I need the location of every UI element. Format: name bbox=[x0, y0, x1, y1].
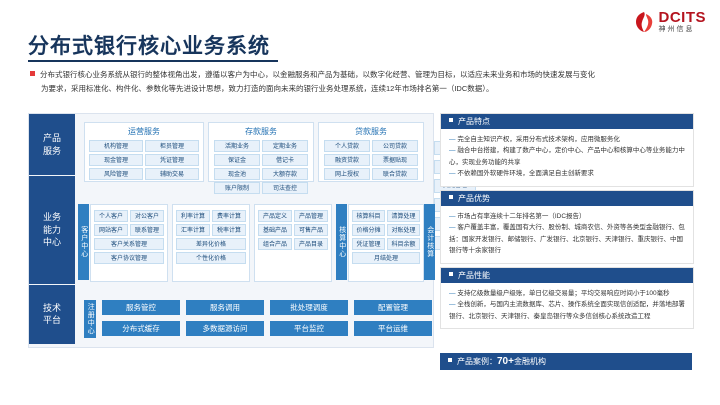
section-header-text: 产品特点 bbox=[458, 117, 490, 126]
case-number: 70+ bbox=[497, 356, 514, 367]
intro-line-2: 为要求，采用标准化、构件化、参数化等先进设计思想，致力打造的面向未来的银行业务处… bbox=[41, 82, 690, 96]
group-pricing-center: 利率计算 费率计算 汇率计算 税率计算 差异化价格 个性化价格 bbox=[172, 204, 250, 282]
group-customer-center: 个人客户 对公客户 网站客户 联系管理 客户关系管理 客户协议管理 bbox=[90, 204, 168, 282]
cell-item[interactable]: 产品目录 bbox=[294, 238, 328, 250]
group-accounting-center: 核算科目 清算处理 价格分摊 对账处理 凭证管理 科目余额 月结处理 bbox=[348, 204, 424, 282]
bullet-text: 完全自主知识产权，采用分布式技术架构，应用微服务化 bbox=[457, 136, 620, 143]
brand-en: DCITS bbox=[659, 10, 707, 25]
cell-item[interactable]: 客户关系管理 bbox=[94, 238, 164, 250]
cell-item[interactable]: 核算科目 bbox=[352, 210, 385, 222]
cell-item[interactable]: 汇率计算 bbox=[176, 224, 210, 236]
cell-item[interactable]: 大额存款 bbox=[262, 168, 308, 180]
cell-item[interactable]: 可售产品 bbox=[294, 224, 328, 236]
intro-line-1: 分布式银行核心业务系统从银行的整体视角出发，遵循以客户为中心，以金融服务和产品为… bbox=[30, 68, 690, 82]
vstrip-customer-center: 客户中心 bbox=[78, 204, 89, 280]
brand-logo: DCITS 神州信息 bbox=[633, 10, 707, 33]
cell-item[interactable]: 定期业务 bbox=[262, 140, 308, 152]
case-prefix: 产品案例： bbox=[457, 357, 497, 366]
cell-item[interactable]: 联系管理 bbox=[130, 224, 164, 236]
cell-item[interactable]: 个人贷款 bbox=[324, 140, 370, 152]
brand-text: DCITS 神州信息 bbox=[659, 10, 707, 33]
section-header: 产品特点 bbox=[441, 114, 693, 129]
title-underline bbox=[28, 60, 278, 62]
cell-item[interactable]: 组合产品 bbox=[258, 238, 292, 250]
tech-row-2: 分布式缓存 多数据源访问 平台监控 平台运维 bbox=[102, 321, 432, 336]
cell-item[interactable]: 机构管理 bbox=[89, 140, 143, 152]
group-title: 运营服务 bbox=[85, 126, 203, 137]
case-banner: 产品案例：70+金融机构 bbox=[440, 353, 692, 370]
bullet-square-icon bbox=[449, 195, 453, 199]
group-cells: 个人贷款 公司贷款 融资贷款 票据贴现 网上授权 联合贷款 bbox=[319, 137, 423, 180]
cell-item[interactable]: 对公客户 bbox=[130, 210, 164, 222]
group-cells: 产品定义 产品管理 基础产品 可售产品 组合产品 产品目录 bbox=[255, 205, 331, 250]
cell-item[interactable]: 利率计算 bbox=[176, 210, 210, 222]
section-header-text: 产品性能 bbox=[458, 271, 490, 280]
slide-root: DCITS 神州信息 分布式银行核心业务系统 分布式银行核心业务系统从银行的整体… bbox=[0, 0, 720, 405]
cell-item[interactable]: 税率计算 bbox=[212, 224, 246, 236]
group-title: 贷款服务 bbox=[319, 126, 423, 137]
cell-item[interactable]: 费率计算 bbox=[212, 210, 246, 222]
tech-button[interactable]: 分布式缓存 bbox=[102, 321, 180, 336]
tech-buttons: 服务管控 服务调用 批处理调度 配置管理 分布式缓存 多数据源访问 平台监控 平… bbox=[102, 300, 432, 336]
cell-item[interactable]: 活期业务 bbox=[214, 140, 260, 152]
cell-item[interactable]: 凭证管理 bbox=[145, 154, 199, 166]
group-cells: 核算科目 清算处理 价格分摊 对账处理 凭证管理 科目余额 月结处理 bbox=[349, 205, 423, 264]
section-body: — 市场占有率连续十二年排名第一（IDC报告） — 客户覆盖丰富，覆盖国有大行、… bbox=[441, 206, 693, 263]
cell-item[interactable]: 产品定义 bbox=[258, 210, 292, 222]
bullet-text: 市场占有率连续十二年排名第一（IDC报告） bbox=[457, 213, 585, 220]
group-deposit-service: 存款服务 活期业务 定期业务 保证金 借记卡 现金池 大额存款 账户限制 司法查… bbox=[208, 122, 314, 182]
vstrip-accounting-label: 会计核算 bbox=[424, 204, 435, 280]
cell-item[interactable]: 借记卡 bbox=[262, 154, 308, 166]
tech-row-1: 服务管控 服务调用 批处理调度 配置管理 bbox=[102, 300, 432, 315]
bullet-line: — 支持亿级数量级户级账，单日亿级交易量；平均交易响应时间小于100毫秒 bbox=[449, 288, 685, 299]
cell-item[interactable]: 司法查控 bbox=[262, 182, 308, 194]
tech-button[interactable]: 配置管理 bbox=[354, 300, 432, 315]
section-product-performance: 产品性能 — 支持亿级数量级户级账，单日亿级交易量；平均交易响应时间小于100毫… bbox=[440, 267, 694, 329]
section-header: 产品性能 bbox=[441, 268, 693, 283]
cell-item[interactable]: 联合贷款 bbox=[372, 168, 418, 180]
cell-item[interactable]: 科目余额 bbox=[387, 238, 420, 250]
cell-item[interactable]: 产品管理 bbox=[294, 210, 328, 222]
section-body: — 支持亿级数量级户级账，单日亿级交易量；平均交易响应时间小于100毫秒 — 全… bbox=[441, 283, 693, 328]
cell-item[interactable]: 现金池 bbox=[214, 168, 260, 180]
tech-button[interactable]: 平台运维 bbox=[354, 321, 432, 336]
cell-item[interactable]: 柜员管理 bbox=[145, 140, 199, 152]
section-product-features: 产品特点 — 完全自主知识产权，采用分布式技术架构，应用微服务化 — 融合中台搭… bbox=[440, 113, 694, 187]
cell-item[interactable]: 账户限制 bbox=[214, 182, 260, 194]
vstrip-accounting-center: 核算中心 bbox=[336, 204, 347, 280]
tech-button[interactable]: 服务管控 bbox=[102, 300, 180, 315]
cell-item[interactable]: 凭证管理 bbox=[352, 238, 385, 250]
rail-tech-platform: 技术平台 bbox=[29, 285, 75, 345]
cell-item[interactable]: 网站客户 bbox=[94, 224, 128, 236]
group-cells: 个人客户 对公客户 网站客户 联系管理 客户关系管理 客户协议管理 bbox=[91, 205, 167, 264]
cell-item[interactable]: 辅助交易 bbox=[145, 168, 199, 180]
group-product-center: 产品定义 产品管理 基础产品 可售产品 组合产品 产品目录 bbox=[254, 204, 332, 282]
logo-mark-icon bbox=[633, 11, 655, 33]
cell-item[interactable]: 个人客户 bbox=[94, 210, 128, 222]
intro-text: 分布式银行核心业务系统从银行的整体视角出发，遵循以客户为中心，以金融服务和产品为… bbox=[30, 68, 690, 97]
section-header: 产品优势 bbox=[441, 191, 693, 206]
rail-capability-center: 业务能力中心 bbox=[29, 176, 75, 285]
page-title: 分布式银行核心业务系统 bbox=[28, 30, 270, 60]
bullet-line: — 完全自主知识产权，采用分布式技术架构，应用微服务化 bbox=[449, 134, 685, 145]
tech-button[interactable]: 批处理调度 bbox=[270, 300, 348, 315]
cell-item[interactable]: 融资贷款 bbox=[324, 154, 370, 166]
bullet-line: — 融合中台搭建，构建了数产中心，定价中心、产品中心和核算中心等业务能力中心，实… bbox=[449, 145, 685, 168]
cell-item[interactable]: 清算处理 bbox=[387, 210, 420, 222]
group-loan-service: 贷款服务 个人贷款 公司贷款 融资贷款 票据贴现 网上授权 联合贷款 bbox=[318, 122, 424, 182]
cell-item[interactable]: 票据贴现 bbox=[372, 154, 418, 166]
rail-product-service: 产品服务 bbox=[29, 114, 75, 176]
bullet-text: 不依赖国外软硬件环境，全面满足自主创新要求 bbox=[457, 170, 594, 177]
bullet-text: 全栈创新，与国内主流数据库、芯片、操作系统全面实现信创适配，并落地部署银行、北京… bbox=[449, 301, 685, 319]
bullet-text: 客户覆盖丰富，覆盖国有大行、股份制、城商农信、外资等各类型金融银行、包括：国家开… bbox=[449, 224, 685, 254]
cell-item[interactable]: 风险管理 bbox=[89, 168, 143, 180]
group-cells: 利率计算 费率计算 汇率计算 税率计算 差异化价格 个性化价格 bbox=[173, 205, 249, 264]
intro-line-1-text: 分布式银行核心业务系统从银行的整体视角出发，遵循以客户为中心，以金融服务和产品为… bbox=[40, 70, 595, 79]
group-cells: 活期业务 定期业务 保证金 借记卡 现金池 大额存款 账户限制 司法查控 bbox=[209, 137, 313, 194]
cell-item[interactable]: 月结处理 bbox=[352, 252, 420, 264]
cell-item[interactable]: 价格分摊 bbox=[352, 224, 385, 236]
group-cells: 机构管理 柜员管理 现金管理 凭证管理 风险管理 辅助交易 bbox=[85, 137, 203, 180]
cell-item[interactable]: 公司贷款 bbox=[372, 140, 418, 152]
layer-rail: 产品服务 业务能力中心 技术平台 bbox=[29, 114, 75, 345]
registry-center-strip: 注册中心 bbox=[84, 300, 96, 338]
bullet-line: — 不依赖国外软硬件环境，全面满足自主创新要求 bbox=[449, 168, 685, 179]
cell-item[interactable]: 基础产品 bbox=[258, 224, 292, 236]
tech-button[interactable]: 多数据源访问 bbox=[186, 321, 264, 336]
bullet-square-icon bbox=[449, 118, 453, 122]
case-suffix: 金融机构 bbox=[514, 357, 546, 366]
tech-button[interactable]: 服务调用 bbox=[186, 300, 264, 315]
section-body: — 完全自主知识产权，采用分布式技术架构，应用微服务化 — 融合中台搭建，构建了… bbox=[441, 129, 693, 186]
cell-item[interactable]: 差异化价格 bbox=[176, 238, 246, 250]
cell-item[interactable]: 个性化价格 bbox=[176, 252, 246, 264]
cell-item[interactable]: 现金管理 bbox=[89, 154, 143, 166]
bullet-line: — 客户覆盖丰富，覆盖国有大行、股份制、城商农信、外资等各类型金融银行、包括：国… bbox=[449, 222, 685, 256]
group-title: 存款服务 bbox=[209, 126, 313, 137]
brand-cn: 神州信息 bbox=[659, 26, 707, 33]
bullet-line: — 市场占有率连续十二年排名第一（IDC报告） bbox=[449, 211, 685, 222]
bullet-square-icon bbox=[449, 272, 453, 276]
cell-item[interactable]: 网上授权 bbox=[324, 168, 370, 180]
bullet-text: 融合中台搭建，构建了数产中心，定价中心、产品中心和核算中心等业务能力中心，实现业… bbox=[449, 147, 685, 165]
cell-item[interactable]: 对账处理 bbox=[387, 224, 420, 236]
bullet-square-icon bbox=[448, 358, 452, 362]
tech-button[interactable]: 平台监控 bbox=[270, 321, 348, 336]
section-header-text: 产品优势 bbox=[458, 194, 490, 203]
bullet-square-icon bbox=[30, 71, 35, 76]
bullet-line: — 全栈创新，与国内主流数据库、芯片、操作系统全面实现信创适配，并落地部署银行、… bbox=[449, 299, 685, 322]
section-product-advantages: 产品优势 — 市场占有率连续十二年排名第一（IDC报告） — 客户覆盖丰富，覆盖… bbox=[440, 190, 694, 264]
group-operation-service: 运营服务 机构管理 柜员管理 现金管理 凭证管理 风险管理 辅助交易 bbox=[84, 122, 204, 182]
cell-item[interactable]: 客户协议管理 bbox=[94, 252, 164, 264]
bullet-text: 支持亿级数量级户级账，单日亿级交易量；平均交易响应时间小于100毫秒 bbox=[457, 290, 669, 297]
cell-item[interactable]: 保证金 bbox=[214, 154, 260, 166]
